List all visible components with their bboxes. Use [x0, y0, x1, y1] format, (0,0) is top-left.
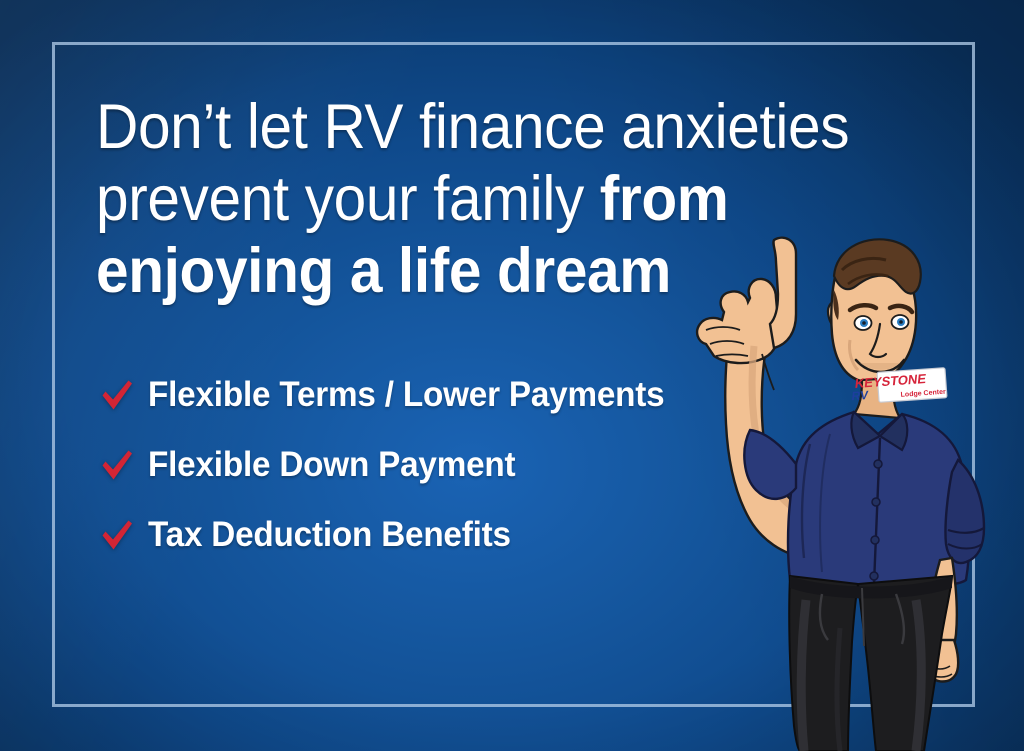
headline-line-2-regular: prevent your family	[96, 164, 600, 234]
benefits-list: Flexible Terms / Lower Payments Flexible…	[100, 360, 740, 570]
headline-line-2: prevent your family from	[96, 164, 775, 236]
character-pants	[789, 576, 952, 751]
promo-banner: Don’t let RV finance anxieties prevent y…	[0, 0, 1024, 751]
list-item: Tax Deduction Benefits	[100, 500, 740, 570]
check-icon	[100, 378, 134, 412]
list-item-label: Flexible Down Payment	[148, 445, 515, 485]
headline-line-2-bold: from	[600, 164, 729, 234]
list-item: Flexible Down Payment	[100, 430, 740, 500]
list-item-label: Tax Deduction Benefits	[148, 515, 511, 555]
list-item-label: Flexible Terms / Lower Payments	[148, 375, 664, 415]
character-illustration: KEYSTONE RV Lodge Center	[690, 228, 1020, 751]
headline-line-1: Don’t let RV finance anxieties	[96, 92, 775, 164]
check-icon	[100, 518, 134, 552]
badge-sub-text: RV	[851, 388, 869, 403]
headline-line-3: enjoying a life dream	[96, 236, 775, 308]
list-item: Flexible Terms / Lower Payments	[100, 360, 740, 430]
headline-line-1-text: Don’t let RV finance anxieties	[96, 92, 849, 162]
headline-line-3-bold: enjoying a life dream	[96, 236, 671, 306]
page-title: Don’t let RV finance anxieties prevent y…	[96, 92, 775, 307]
check-icon	[100, 448, 134, 482]
